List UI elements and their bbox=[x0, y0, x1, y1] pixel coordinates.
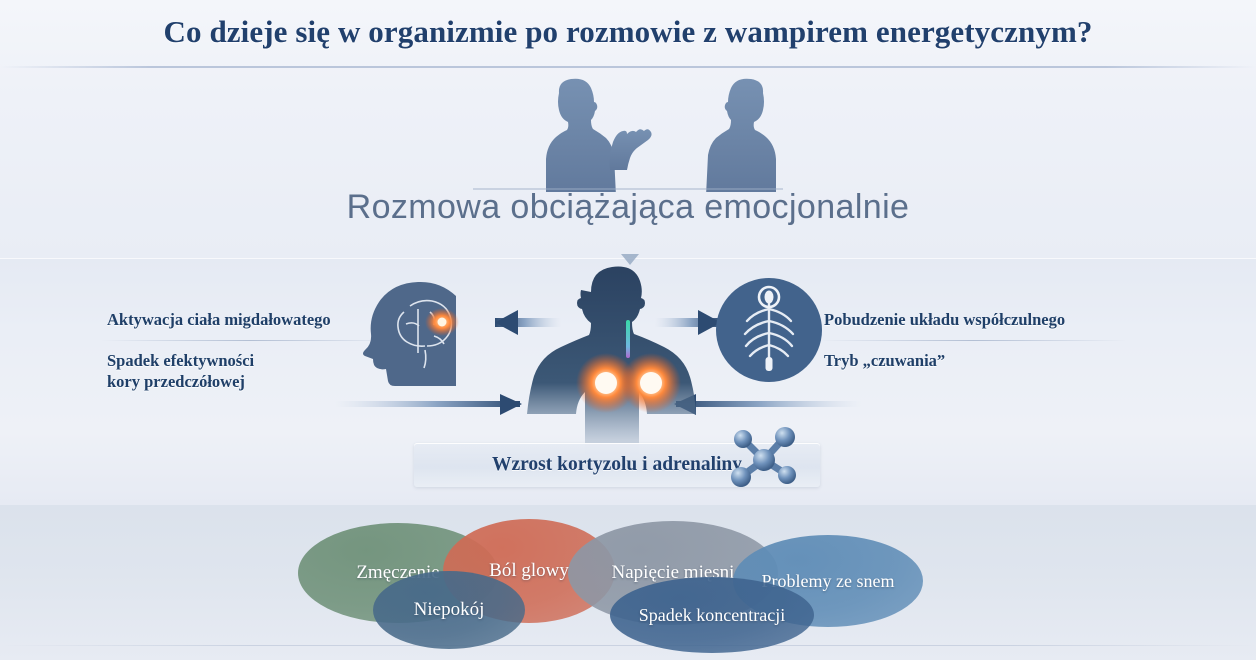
label-prefrontal-line2: kory przedczółowej bbox=[107, 372, 245, 391]
scene-subtitle: Rozmowa obciążająca emocjonalnie bbox=[0, 188, 1256, 227]
label-amygdala-activation: Aktywacja ciała migdałowatego bbox=[107, 309, 377, 330]
conversation-scene bbox=[463, 70, 793, 192]
label-prefrontal-line1: Spadek efektywności bbox=[107, 351, 254, 370]
symptom-label: Spadek koncentracji bbox=[639, 605, 785, 626]
page-title: Co dzieje się w organizmie po rozmowie z… bbox=[0, 14, 1256, 50]
symptom-label: Niepokój bbox=[414, 599, 485, 621]
label-prefrontal-cortex: Spadek efektywności kory przedczółowej bbox=[107, 350, 307, 392]
symptom-bubble[interactable]: Spadek koncentracji bbox=[610, 577, 814, 653]
label-alert-mode: Tryb „czuwania” bbox=[824, 350, 1044, 371]
infographic-root: Co dzieje się w organizmie po rozmowie z… bbox=[0, 0, 1256, 660]
label-sympathetic-activation: Pobudzenie układu współczulnego bbox=[824, 309, 1124, 330]
divider-right bbox=[818, 340, 1128, 341]
divider-left bbox=[100, 340, 400, 341]
symptom-bubbles: ZmęczenieBól glowyNapięcie mięsniProblem… bbox=[0, 505, 1256, 660]
cortisol-label: Wzrost kortyzolu i adrenaliny bbox=[492, 454, 742, 476]
symptom-bubble[interactable]: Niepokój bbox=[373, 571, 525, 649]
brain-head-profile-icon bbox=[356, 276, 484, 386]
molecule-icon bbox=[726, 424, 802, 494]
conversation-silhouettes-icon bbox=[463, 70, 793, 192]
symptom-label: Ból glowy bbox=[489, 560, 569, 582]
human-torso-silhouette bbox=[518, 252, 740, 464]
